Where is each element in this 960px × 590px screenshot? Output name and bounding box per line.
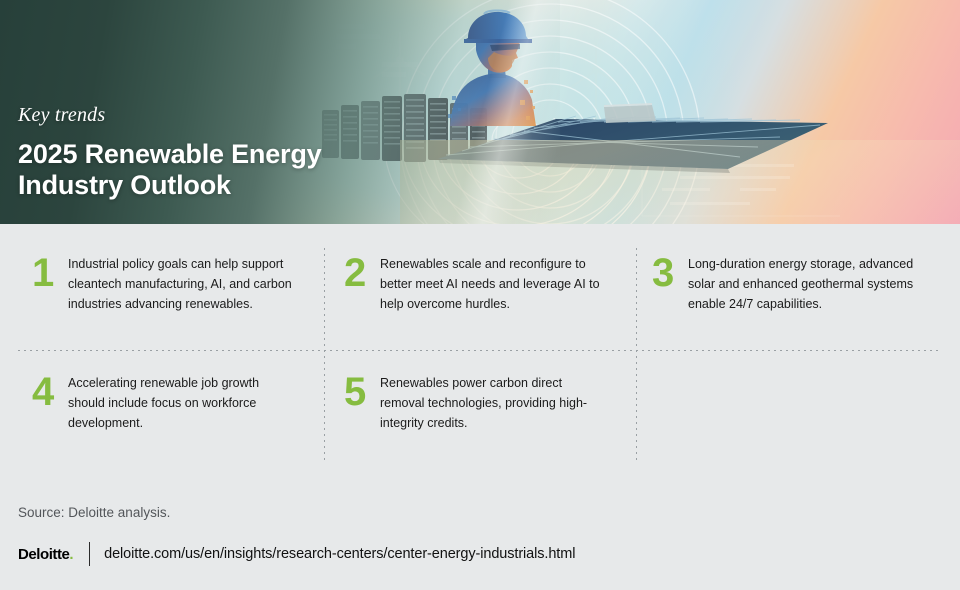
divider-horizontal	[18, 350, 942, 351]
trend-number-1: 1	[28, 254, 68, 292]
page-title-line-2: Industry Outlook	[18, 170, 321, 201]
source-note: Source: Deloitte analysis.	[18, 505, 170, 520]
brand-separator	[89, 542, 90, 566]
trend-number-4: 4	[28, 373, 68, 411]
trend-grid: 1 Industrial policy goals can help suppo…	[0, 224, 960, 480]
trend-text-2: Renewables scale and reconfigure to bett…	[380, 254, 608, 314]
trend-text-5: Renewables power carbon direct removal t…	[380, 373, 608, 433]
divider-vertical-1	[324, 248, 325, 462]
trend-item-3: 3 Long-duration energy storage, advanced…	[648, 254, 916, 314]
trend-number-5: 5	[340, 373, 380, 411]
trend-text-3: Long-duration energy storage, advanced s…	[688, 254, 916, 314]
brand-url[interactable]: deloitte.com/us/en/insights/research-cen…	[104, 546, 575, 562]
deloitte-logo-text: Deloitte	[18, 546, 69, 563]
brand-bar: Deloitte. deloitte.com/us/en/insights/re…	[18, 542, 575, 566]
trend-number-3: 3	[648, 254, 688, 292]
trend-text-1: Industrial policy goals can help support…	[68, 254, 296, 314]
light-shaft	[300, 0, 720, 224]
hero-kicker: Key trends	[18, 104, 321, 127]
trend-item-1: 1 Industrial policy goals can help suppo…	[28, 254, 296, 314]
trend-number-2: 2	[340, 254, 380, 292]
infographic-root: Key trends 2025 Renewable Energy Industr…	[0, 0, 960, 590]
page-title: 2025 Renewable Energy Industry Outlook	[18, 139, 321, 201]
trend-item-2: 2 Renewables scale and reconfigure to be…	[340, 254, 608, 314]
footer: Source: Deloitte analysis. Deloitte. del…	[0, 480, 960, 590]
deloitte-logo-dot: .	[69, 546, 73, 563]
hero-banner: Key trends 2025 Renewable Energy Industr…	[0, 0, 960, 224]
deloitte-logo: Deloitte.	[18, 546, 73, 563]
divider-vertical-2	[636, 248, 637, 462]
trend-text-4: Accelerating renewable job growth should…	[68, 373, 296, 433]
hero-text-block: Key trends 2025 Renewable Energy Industr…	[18, 104, 321, 201]
trend-item-5: 5 Renewables power carbon direct removal…	[340, 373, 608, 433]
trend-item-4: 4 Accelerating renewable job growth shou…	[28, 373, 296, 433]
page-title-line-1: 2025 Renewable Energy	[18, 139, 321, 170]
